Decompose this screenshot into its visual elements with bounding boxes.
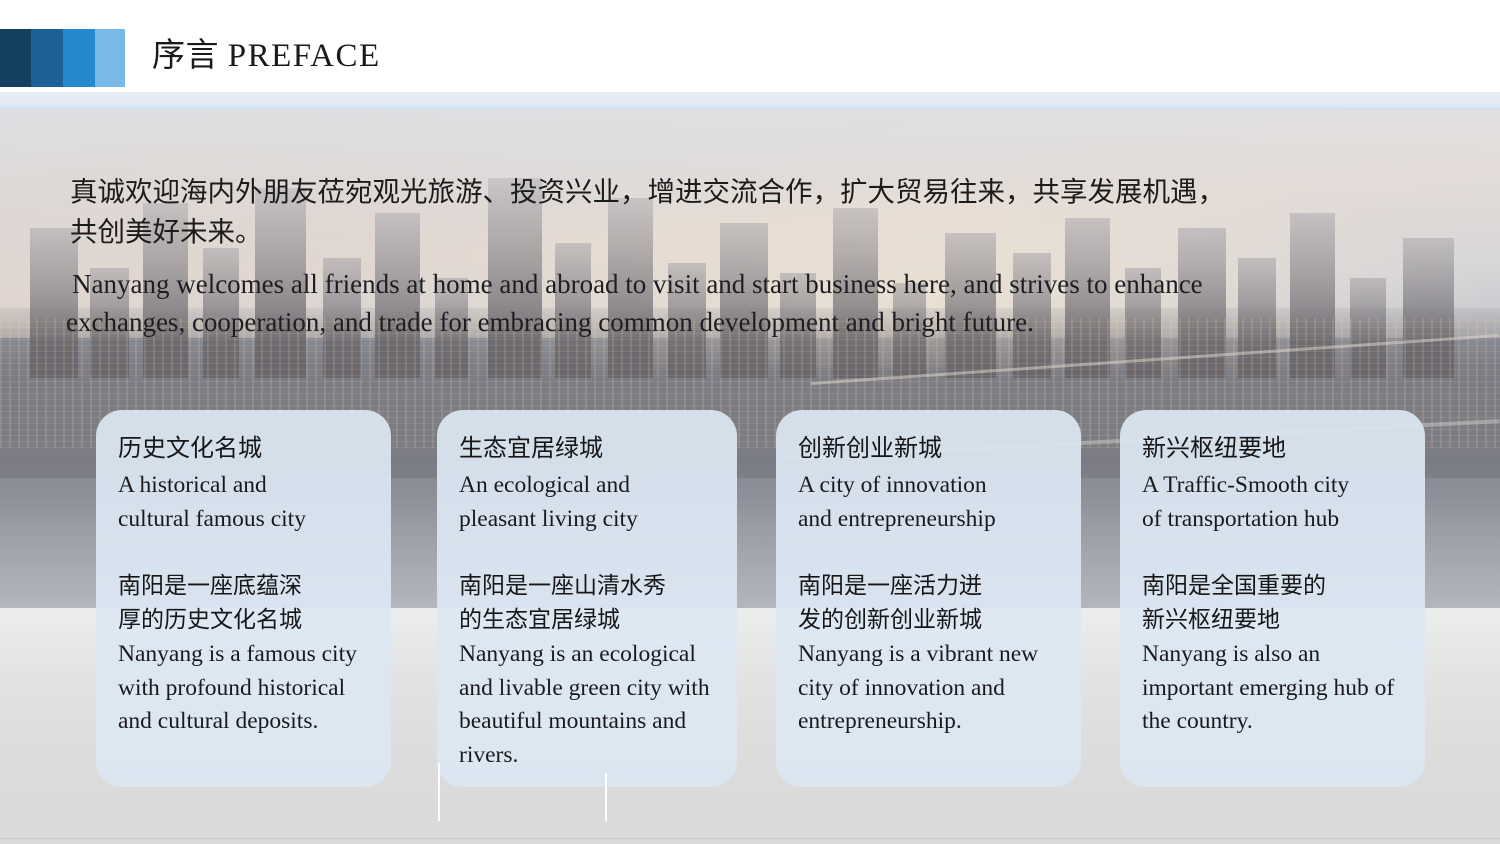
feature-card-historical-cultural-city[interactable]: 历史文化名城 A historical and cultural famous … [96, 410, 391, 787]
bottom-divider-left [438, 763, 440, 821]
card-body-cn-line2: 厚的历史文化名城 [118, 604, 373, 637]
card-body-en: Nanyang is an ecological and livable gre… [459, 638, 719, 772]
card-body-en: Nanyang is also an important emerging hu… [1142, 638, 1407, 739]
feature-card-transportation-hub[interactable]: 新兴枢纽要地 A Traffic-Smooth city of transpor… [1120, 410, 1425, 787]
card-body-en: Nanyang is a famous city with profound h… [118, 638, 373, 739]
feature-card-ecological-green-city[interactable]: 生态宜居绿城 An ecological and pleasant living… [437, 410, 737, 787]
swatch-light-icon [95, 29, 125, 87]
card-title-cn: 创新创业新城 [798, 432, 1063, 465]
card-title-en-line2: pleasant living city [459, 502, 719, 536]
page-title-en: PREFACE [228, 38, 381, 74]
card-body-cn-line1: 南阳是一座山清水秀 [459, 570, 719, 603]
header-bar: 序言 PREFACE [0, 0, 1500, 92]
card-spacer [798, 536, 1063, 570]
card-title-en-line1: A historical and [118, 468, 373, 502]
card-title-en-line1: A city of innovation [798, 468, 1063, 502]
card-body-cn-line2: 的生态宜居绿城 [459, 604, 719, 637]
card-body-cn-line2: 新兴枢纽要地 [1142, 604, 1407, 637]
card-title-en-line1: A Traffic-Smooth city [1142, 468, 1407, 502]
card-title-cn: 历史文化名城 [118, 432, 373, 465]
card-title-en-line1: An ecological and [459, 468, 719, 502]
card-body-cn-line1: 南阳是全国重要的 [1142, 570, 1407, 603]
swatch-darkest-icon [0, 29, 31, 87]
card-body-cn-line1: 南阳是一座活力迸 [798, 570, 1063, 603]
swatch-mid-icon [63, 29, 95, 87]
card-title-en-line2: and entrepreneurship [798, 502, 1063, 536]
bottom-divider-right [605, 773, 607, 821]
card-spacer [1142, 536, 1407, 570]
slide-preface: 序言 PREFACE 真诚欢迎海内外朋友莅宛观光旅游、投资兴业，增进交流合作，扩… [0, 0, 1500, 844]
card-spacer [459, 536, 719, 570]
card-title-cn: 新兴枢纽要地 [1142, 432, 1407, 465]
swatch-dark-icon [31, 29, 63, 87]
card-title-en-line2: cultural famous city [118, 502, 373, 536]
card-title-cn: 生态宜居绿城 [459, 432, 719, 465]
card-body-cn-line1: 南阳是一座底蕴深 [118, 570, 373, 603]
card-body-cn-line2: 发的创新创业新城 [798, 604, 1063, 637]
feature-card-innovation-entrepreneurship-city[interactable]: 创新创业新城 A city of innovation and entrepre… [776, 410, 1081, 787]
page-title: 序言 PREFACE [152, 33, 381, 78]
card-title-en-line2: of transportation hub [1142, 502, 1407, 536]
page-title-cn: 序言 [152, 35, 219, 74]
swatch-group [0, 29, 125, 87]
card-body-en: Nanyang is a vibrant new city of innovat… [798, 638, 1063, 739]
feature-card-group: 历史文化名城 A historical and cultural famous … [0, 0, 1500, 844]
card-spacer [118, 536, 373, 570]
